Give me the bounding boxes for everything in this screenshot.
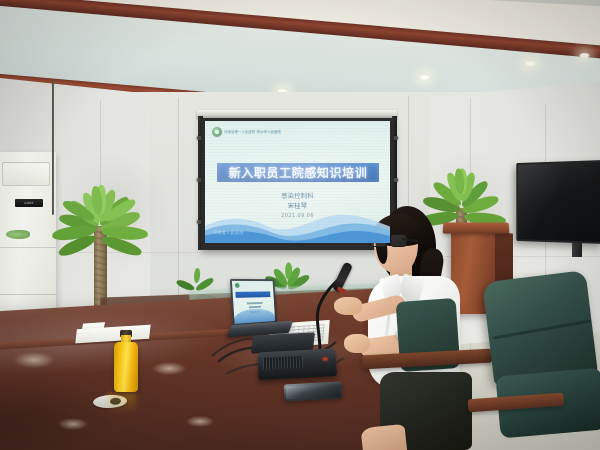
tv-mount: [572, 243, 582, 257]
plant-leaf: [193, 268, 201, 284]
conference-microphone-unit[interactable]: [258, 348, 337, 380]
bottle-body: [114, 342, 138, 392]
smartphone[interactable]: [284, 381, 343, 401]
plant-money-tree-left: [34, 148, 174, 318]
laptop-screen[interactable]: [232, 281, 275, 324]
projected-slide: 河南省第一人民医院 郑州市人民医院 新入职员工院感知识培训 感染控制科 宋桂琴 …: [205, 121, 390, 243]
microphone-led-indicator: [323, 357, 328, 360]
laptop-slide-title-bar: [235, 291, 270, 297]
ac-decal: [6, 230, 30, 239]
slide-logo-text: 河南省第一人民医院 郑州市人民医院: [224, 130, 281, 134]
laptop-slide-text-line: [247, 302, 263, 304]
projection-screen: 河南省第一人民医院 郑州市人民医院 新入职员工院感知识培训 感染控制科 宋桂琴 …: [201, 118, 394, 250]
ceiling-downlight: [418, 74, 431, 81]
chair-foreground-right[interactable]: [480, 276, 600, 450]
laptop-slide-logo-icon: [235, 283, 240, 288]
hand-on-microphone: [334, 297, 362, 315]
hospital-emblem-icon: [212, 127, 222, 137]
laptop-slide-text-line: [249, 306, 261, 308]
leg: [361, 424, 408, 450]
slide-organization-logo: 河南省第一人民医院 郑州市人民医院: [212, 127, 281, 137]
slide-footer-text: 河南省人民医院: [213, 230, 244, 236]
ceiling-downlight: [524, 60, 537, 67]
hand-resting: [344, 334, 370, 353]
slide-title: 新入职员工院感知识培训: [217, 163, 379, 182]
ceiling-downlight: [578, 52, 591, 59]
water-bottle[interactable]: [114, 330, 138, 392]
bottle-reflection: [107, 392, 136, 414]
microphone-speaker-grille: [263, 356, 303, 370]
laptop-lid: [230, 279, 277, 327]
slide-title-bar: 新入职员工院感知识培训: [217, 163, 379, 182]
conference-room-photo: GREE 河南省第一人民医院 郑州市人民医院 新入职员工院感知识培训 感染控制科: [0, 0, 600, 450]
slide-department: 感染控制科: [205, 191, 390, 200]
glasses-lens-right: [390, 234, 407, 247]
